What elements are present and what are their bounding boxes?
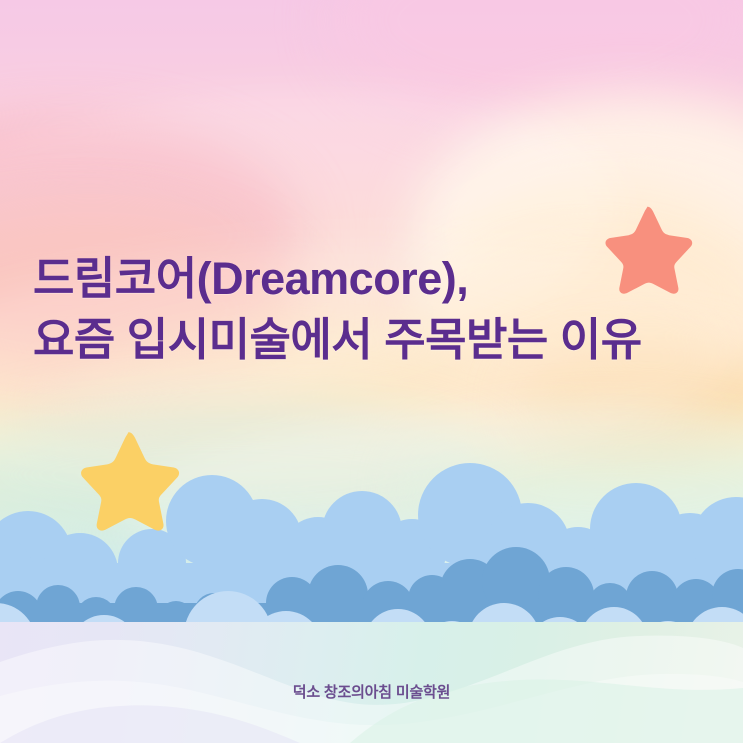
title-line-1: 드림코어(Dreamcore), xyxy=(33,248,723,309)
footer-caption: 덕소 창조의아침 미술학원 xyxy=(0,681,743,702)
yellow-star-icon xyxy=(76,428,180,532)
title-line-2: 요즘 입시미술에서 주목받는 이유 xyxy=(33,309,723,370)
dreamcore-promo-card: 드림코어(Dreamcore), 요즘 입시미술에서 주목받는 이유 덕소 창조… xyxy=(0,0,743,743)
page-title: 드림코어(Dreamcore), 요즘 입시미술에서 주목받는 이유 xyxy=(33,248,723,370)
